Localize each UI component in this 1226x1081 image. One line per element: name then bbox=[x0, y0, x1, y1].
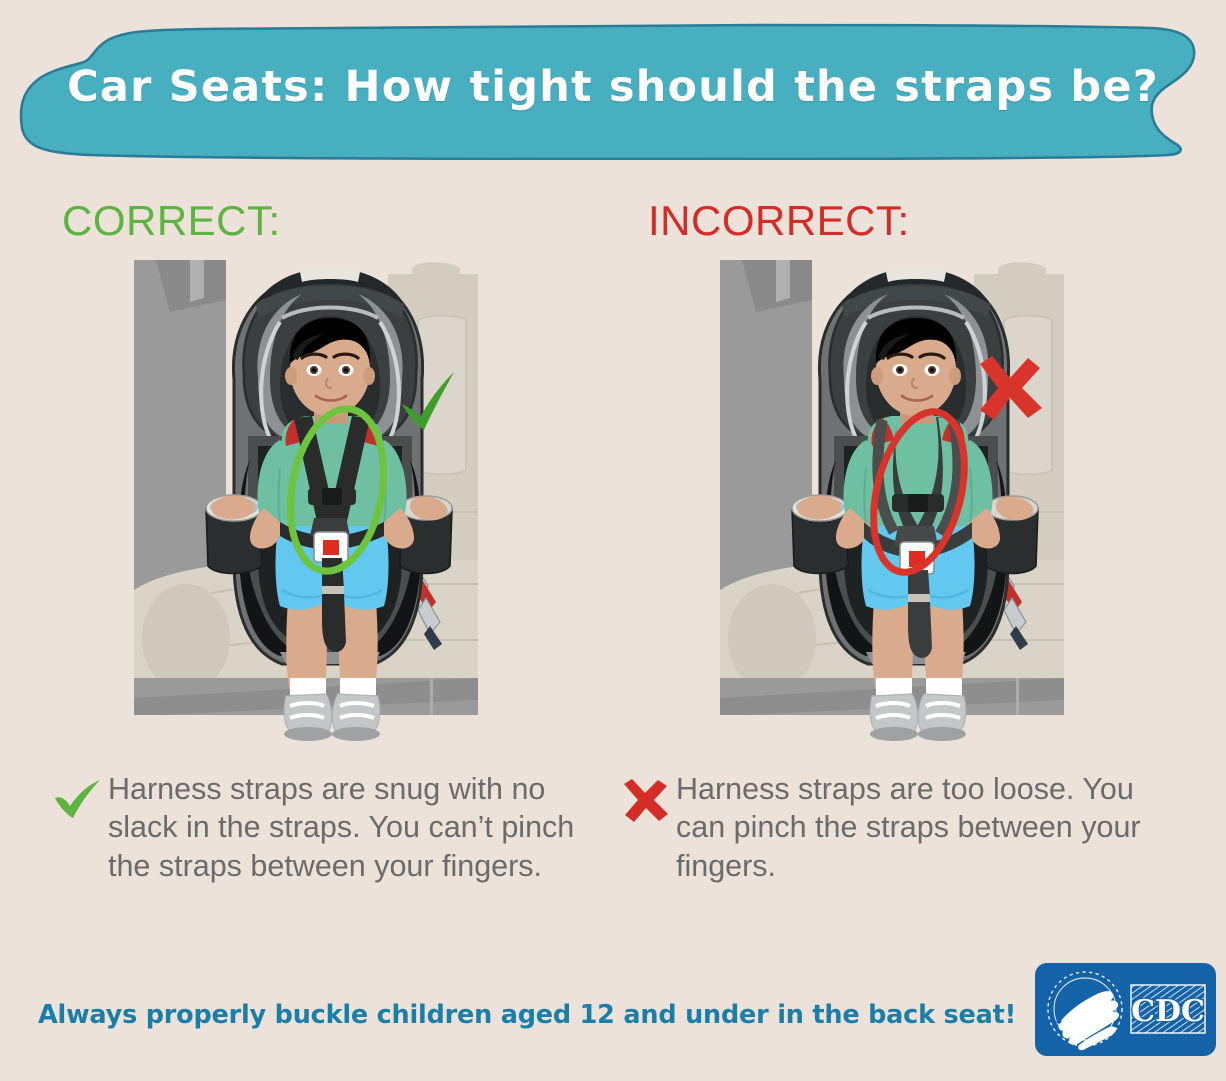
title-banner: Car Seats: How tight should the straps b… bbox=[0, 18, 1226, 160]
cdc-hhs-logo[interactable]: CDC bbox=[1035, 963, 1216, 1056]
caption-incorrect: Harness straps are too loose. You can pi… bbox=[620, 770, 1190, 885]
caption-incorrect-text: Harness straps are too loose. You can pi… bbox=[676, 770, 1190, 885]
heading-incorrect: INCORRECT: bbox=[648, 200, 1180, 242]
heading-correct: CORRECT: bbox=[62, 200, 594, 242]
column-incorrect: INCORRECT: bbox=[620, 200, 1180, 750]
caption-correct: Harness straps are snug with no slack in… bbox=[52, 770, 582, 885]
check-icon bbox=[52, 778, 104, 824]
cdc-text: CDC bbox=[1131, 994, 1205, 1029]
page-title: Car Seats: How tight should the straps b… bbox=[0, 62, 1226, 112]
caption-correct-text: Harness straps are snug with no slack in… bbox=[108, 770, 582, 885]
cdc-wordmark: CDC bbox=[1131, 985, 1205, 1033]
column-correct: CORRECT: bbox=[34, 200, 594, 750]
illustration-incorrect bbox=[716, 260, 1064, 750]
footer-message: Always properly buckle children aged 12 … bbox=[38, 1000, 1016, 1030]
x-icon bbox=[620, 778, 672, 824]
illustration-correct bbox=[130, 260, 478, 750]
